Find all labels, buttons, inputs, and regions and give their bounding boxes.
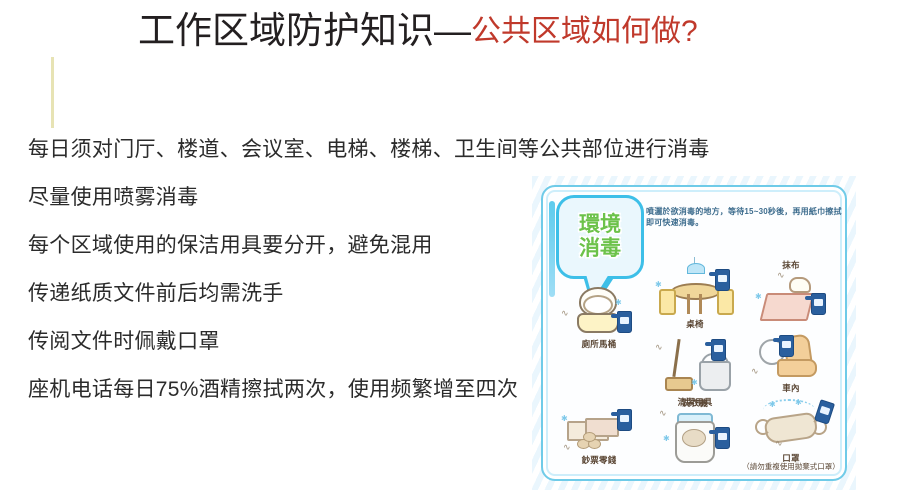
poster-item-label: 鈔票零錢 xyxy=(551,454,647,466)
title-accent-rule xyxy=(51,57,54,128)
poster-item-label: 廁所馬桶 xyxy=(551,338,647,350)
mop-bucket-icon: ✱ ∿ xyxy=(655,339,735,395)
poster-inner-frame: 環境 消毒 噴灑於欲消毒的地方，等待15~30秒後，再用紙巾擦拭即可快速消毒。 … xyxy=(541,185,847,481)
poster-speech-bubble: 環境 消毒 xyxy=(556,195,644,279)
slide-canvas: 工作区域防护知识—公共区域如何做? 每日须对门厅、楼道、会议室、电梯、楼梯、卫生… xyxy=(0,0,900,502)
body-line: 传阅文件时佩戴口罩 xyxy=(28,328,528,355)
body-text-list: 每日须对门厅、楼道、会议室、电梯、楼梯、卫生间等公共部位进行消毒 尽量使用喷雾消… xyxy=(28,136,528,424)
money-icon: ✱ ∿ xyxy=(559,399,639,453)
body-line: 尽量使用喷雾消毒 xyxy=(28,184,528,211)
poster-item-label: 桌椅 xyxy=(647,318,743,330)
body-line: 每日须对门厅、楼道、会议室、电梯、楼梯、卫生间等公共部位进行消毒 xyxy=(28,136,528,163)
page-title-accent: 公共区域如何做? xyxy=(471,15,698,48)
poster-content: 環境 消毒 噴灑於欲消毒的地方，等待15~30秒後，再用紙巾擦拭即可快速消毒。 … xyxy=(543,187,845,479)
poster-item-money: ✱ ∿ 鈔票零錢 xyxy=(551,399,647,466)
page-title: 工作区域防护知识—公共区域如何做? xyxy=(138,9,698,54)
poster-item-label: 抹布 xyxy=(743,259,839,271)
poster-item-car-interior: ∿ 車內 xyxy=(743,327,839,394)
environment-disinfection-poster: 環境 消毒 噴灑於欲消毒的地方，等待15~30秒後，再用紙巾擦拭即可快速消毒。 … xyxy=(532,176,856,490)
poster-item-toilet: ∿ ✱ 廁所馬桶 xyxy=(551,283,647,350)
table-chair-icon: ✱ xyxy=(655,263,735,317)
poster-item-washing-machine: 洗衣機 ✱ ∿ xyxy=(647,397,743,466)
poster-footnote: （請勿重複使用拋棄式口罩） xyxy=(729,461,853,472)
poster-instruction-text: 噴灑於欲消毒的地方，等待15~30秒後，再用紙巾擦拭即可快速消毒。 xyxy=(646,206,842,228)
poster-item-cloth: 抹布 ∿ ✱ xyxy=(743,259,839,326)
poster-bubble-title-line1: 環境 xyxy=(579,213,621,237)
page-title-main: 工作区域防护知识— xyxy=(138,10,471,51)
poster-item-mask: ✱ ✱ ∿ 口罩 xyxy=(743,397,839,464)
toilet-icon: ∿ ✱ xyxy=(559,283,639,337)
poster-item-label: 車內 xyxy=(743,382,839,394)
poster-bubble-title: 環境 消毒 xyxy=(559,198,641,276)
body-line: 传递纸质文件前后均需洗手 xyxy=(28,280,528,307)
washing-machine-icon: ✱ ∿ xyxy=(655,409,735,465)
body-line: 座机电话每日75%酒精擦拭两次，使用频繁增至四次 xyxy=(28,376,528,403)
cleaning-cloth-icon: ∿ ✱ xyxy=(751,271,831,325)
poster-bubble-title-line2: 消毒 xyxy=(579,237,621,261)
face-mask-icon: ✱ ✱ ∿ xyxy=(751,397,831,451)
car-interior-icon: ∿ xyxy=(751,327,831,381)
poster-item-table-chairs: ✱ 桌椅 xyxy=(647,263,743,330)
body-line: 每个区域使用的保洁用具要分开，避免混用 xyxy=(28,232,528,259)
